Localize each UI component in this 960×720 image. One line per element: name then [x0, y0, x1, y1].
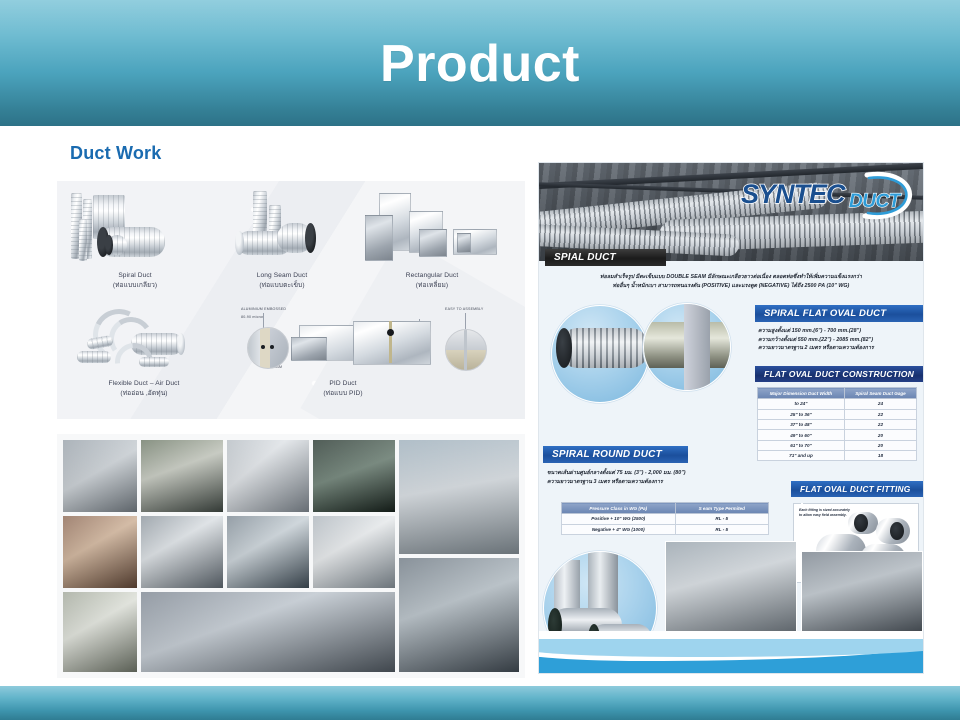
brochure-footer-swoosh [539, 647, 923, 673]
spec-line: ขนาดเส้นผ่านศูนย์กลางตั้งแต่ 75 มม. (3")… [547, 469, 787, 478]
banner-flat-oval-duct-fitting: FLAT OVAL DUCT FITTING [791, 481, 924, 497]
collage-photo [63, 440, 137, 512]
collage-photo [313, 440, 395, 512]
banner-flat-oval-duct-construction: FLAT OVAL DUCT CONSTRUCTION [755, 366, 924, 382]
spiral-round-specs: ขนาดเส้นผ่านศูนย์กลางตั้งแต่ 75 มม. (3")… [547, 469, 787, 486]
collage-photo [227, 516, 309, 588]
duct-photo-collage [57, 434, 525, 678]
duct-label-spiral: Spiral Duct (ท่อแบบเกลียว) [65, 271, 205, 290]
cell-seam: RL - 5 [675, 514, 769, 524]
cell-width: 71" and up [758, 451, 845, 461]
spec-line: ความยาวมาตรฐาน 2 เมตร หรือตามความต้องการ [758, 344, 924, 353]
duct-item-rectangular: Rectangular Duct (ท่อเหลี่ยม) [357, 189, 507, 290]
logo-text-syntec: SYNTEC [741, 179, 845, 210]
section-heading-duct-work: Duct Work [70, 143, 161, 164]
col-seam-gage: Spiral Seam Duct Gage [844, 388, 916, 399]
collage-photo [141, 440, 223, 512]
brochure-photo-circle-flat-oval [551, 305, 649, 403]
cell-width: 37" to 48" [758, 419, 845, 429]
col-major-dimension: Major Dimension Duct Width [758, 388, 845, 399]
duct-types-diagram: Spiral Duct (ท่อแบบเกลียว) Long Seam Duc… [57, 181, 525, 419]
table-row: 49" to 60" 20 [758, 430, 917, 440]
spec-line: ความกว้างตั้งแต่ 550 mm.(22") - 2085 mm.… [758, 336, 924, 345]
collage-photo [141, 592, 395, 672]
table-row: Positive + 10" WG (2500) RL - 5 [562, 514, 769, 524]
col-seam-type: S eam Type Permited [675, 503, 769, 514]
duct-label-pid: PID Duct (ท่อแบบ PID) [173, 379, 513, 398]
cell-seam: RL - 5 [675, 524, 769, 534]
brochure-photo-installation-2 [801, 551, 923, 639]
duct-label-long-seam: Long Seam Duct (ท่อแบบตะเข็บ) [219, 271, 345, 290]
cell-gage: 18 [844, 451, 916, 461]
spial-duct-description-line1: ท่อลมสำเร็จรูป มีตะเข็บแบบ DOUBLE SEAM ม… [549, 273, 913, 282]
collage-photo [313, 516, 395, 588]
slide: Product Duct Work Spiral Duct (ท่อแบบเกล… [0, 0, 960, 720]
cell-gage: 20 [844, 440, 916, 450]
brochure-photo-fittings-row [801, 503, 803, 505]
spec-line: ความสูงตั้งแต่ 150 mm.(6") - 700 mm.(28"… [758, 327, 924, 336]
cell-width: to 24" [758, 399, 845, 409]
table-row: 71" and up 18 [758, 451, 917, 461]
banner-spial-duct: SPIAL DUCT [545, 249, 666, 266]
collage-photo [399, 558, 519, 672]
spec-line: ความยาวมาตรฐาน 3 เมตร หรือตามความต้องการ [547, 478, 787, 487]
cell-pressure: Positive + 10" WG (2500) [562, 514, 676, 524]
col-pressure-class: Pressure Class in WG (Pa) [562, 503, 676, 514]
table-row: 25" to 36" 22 [758, 409, 917, 419]
pid-material-inset [247, 327, 289, 369]
page-title: Product [380, 38, 580, 90]
collage-photo [227, 440, 309, 512]
cell-pressure: Negative + 4" WG (1000) [562, 524, 676, 534]
syntec-brochure: SYNTEC DUCT SPIAL DUCT ท่อลมสำเร็จรูป มี… [538, 162, 924, 674]
brochure-hero-photo: SYNTEC DUCT [539, 163, 923, 261]
cell-gage: 24 [844, 399, 916, 409]
collage-photo [63, 592, 137, 672]
table-row: 37" to 48" 22 [758, 419, 917, 429]
spial-duct-description-line2: ท่ออื่นๆ น้ำหนักเบา สามารถทนแรงดัน (POSI… [549, 282, 913, 291]
cell-gage: 22 [844, 409, 916, 419]
table-row: to 24" 24 [758, 399, 917, 409]
header-banner: Product [0, 0, 960, 126]
table-header-row: Major Dimension Duct Width Spiral Seam D… [758, 388, 917, 399]
duct-item-pid: ALUMINIUM EMBOSSED 80-90 micron FOAM EAS… [233, 307, 513, 398]
banner-spiral-flat-oval-duct: SPIRAL FLAT OVAL DUCT [755, 305, 924, 322]
cell-gage: 22 [844, 419, 916, 429]
table-row: 61" to 70" 20 [758, 440, 917, 450]
banner-spiral-round-duct: SPIRAL ROUND DUCT [543, 446, 688, 463]
footer-banner [0, 686, 960, 720]
logo-text-duct: DUCT [849, 191, 900, 213]
collage-photo [141, 516, 223, 588]
spiral-flat-oval-specs: ความสูงตั้งแต่ 150 mm.(6") - 700 mm.(28"… [758, 327, 924, 353]
cell-gage: 20 [844, 430, 916, 440]
fitting-caption: Each fitting is sized accurately to allo… [799, 508, 851, 519]
collage-photo [399, 440, 519, 554]
collage-photo [63, 516, 137, 588]
spial-duct-description: ท่อลมสำเร็จรูป มีตะเข็บแบบ DOUBLE SEAM ม… [549, 273, 913, 290]
cell-width: 25" to 36" [758, 409, 845, 419]
flat-oval-construction-table: Major Dimension Duct Width Spiral Seam D… [757, 387, 917, 461]
callout-aluminium: ALUMINIUM EMBOSSED [241, 307, 286, 311]
cell-width: 49" to 60" [758, 430, 845, 440]
duct-label-rectangular: Rectangular Duct (ท่อเหลี่ยม) [357, 271, 507, 290]
duct-item-long-seam: Long Seam Duct (ท่อแบบตะเข็บ) [219, 189, 345, 290]
duct-item-spiral: Spiral Duct (ท่อแบบเกลียว) [65, 189, 205, 290]
pid-joint-inset [445, 329, 487, 371]
callout-thickness: 80-90 micron [241, 315, 264, 319]
syntec-logo: SYNTEC DUCT [737, 169, 915, 221]
brochure-photo-circle-insulated [643, 303, 731, 391]
table-header-row: Pressure Class in WG (Pa) S eam Type Per… [562, 503, 769, 514]
callout-assembly: EASY TO ASSEMBLY [445, 307, 484, 311]
cell-width: 61" to 70" [758, 440, 845, 450]
spiral-round-pressure-table: Pressure Class in WG (Pa) S eam Type Per… [561, 502, 769, 535]
brochure-photo-installation-1 [665, 541, 797, 639]
table-row: Negative + 4" WG (1000) RL - 5 [562, 524, 769, 534]
